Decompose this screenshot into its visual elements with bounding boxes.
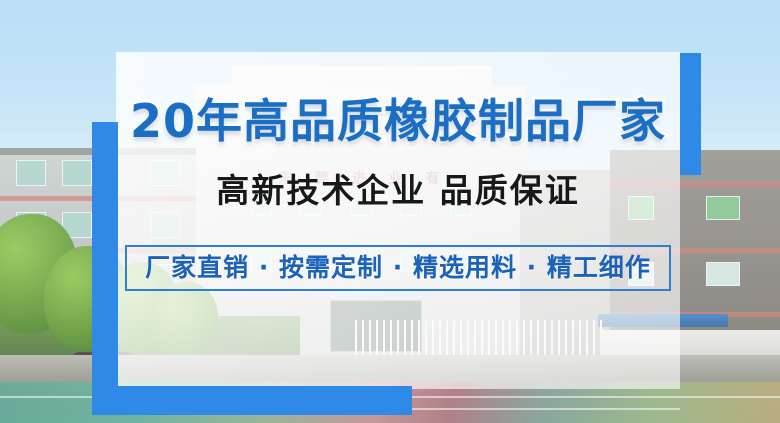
banner-content: 20年高品质橡胶制品厂家 高新技术企业 品质保证 厂家直销 · 按需定制 · 精… [116, 52, 680, 389]
accent-bar-bottom [92, 386, 412, 415]
accent-bar-left [92, 122, 118, 386]
promo-banner: 东 莞 进 业 有 [0, 0, 780, 423]
banner-headline: 20年高品质橡胶制品厂家 [130, 98, 666, 144]
accent-bar-right [680, 53, 701, 175]
tagline-box: 厂家直销 · 按需定制 · 精选用料 · 精工细作 [125, 245, 671, 291]
banner-subline: 高新技术企业 品质保证 [216, 174, 580, 207]
banner-tagline: 厂家直销 · 按需定制 · 精选用料 · 精工细作 [145, 255, 651, 280]
